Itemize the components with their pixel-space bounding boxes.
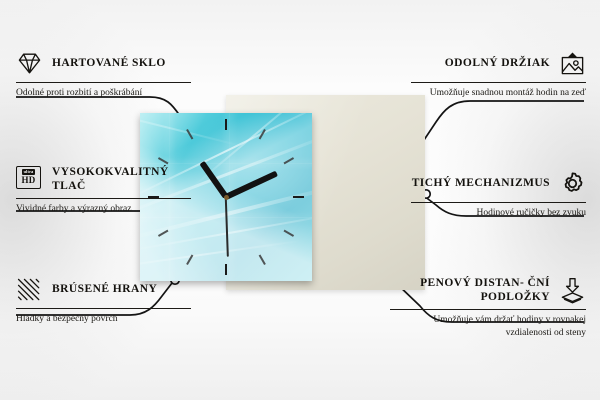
feature-desc: Umožňuje snadnou montáž hodin na zeď bbox=[411, 87, 586, 100]
connector-right-1 bbox=[420, 101, 584, 146]
feature-title: PENOVÝ DISTAN- ČNÍ PODLOŽKY bbox=[390, 276, 550, 304]
picture-hanger-icon bbox=[559, 50, 586, 77]
divider bbox=[16, 198, 191, 199]
feature-desc: Vividné farby a výrazný obraz bbox=[16, 203, 191, 216]
feature-desc: Odolné proti rozbití a poškrábání bbox=[16, 87, 191, 100]
feature-brusene-hrany: BRÚSENÉ HRANY Hladký a bezpečný povrch bbox=[16, 276, 191, 326]
divider bbox=[411, 82, 586, 83]
clock-tick bbox=[225, 119, 227, 130]
feature-title: HARTOVANÉ SKLO bbox=[52, 56, 166, 70]
feature-penove-podlozky: PENOVÝ DISTAN- ČNÍ PODLOŽKY Umožňuje vám… bbox=[390, 276, 586, 339]
feature-odolny-drziak: ODOLNÝ DRŽIAK Umožňuje snadnou montáž ho… bbox=[411, 50, 586, 100]
ultra-hd-icon: ultraHD bbox=[16, 166, 43, 193]
infographic-stage: HARTOVANÉ SKLO Odolné proti rozbití a po… bbox=[0, 0, 600, 400]
feature-title: TICHÝ MECHANIZMUS bbox=[412, 176, 550, 190]
divider bbox=[16, 308, 191, 309]
diamond-icon bbox=[16, 50, 43, 77]
foam-pad-icon bbox=[559, 277, 586, 304]
gear-icon bbox=[559, 170, 586, 197]
feature-title: BRÚSENÉ HRANY bbox=[52, 282, 157, 296]
hand-cap bbox=[224, 195, 229, 200]
feature-desc: Hodinové ručičky bez zvuku bbox=[411, 207, 586, 220]
feature-desc: Hladký a bezpečný povrch bbox=[16, 313, 191, 326]
feature-hartovane-sklo: HARTOVANÉ SKLO Odolné proti rozbití a po… bbox=[16, 50, 191, 100]
feature-desc: Umožňuje vám držať hodiny v rovnakej vzd… bbox=[390, 314, 586, 339]
clock-tick bbox=[225, 264, 227, 275]
clock-tick bbox=[293, 196, 304, 198]
feature-title: ODOLNÝ DRŽIAK bbox=[445, 56, 550, 70]
feature-title: VYSOKOKVALITNÝ TLAČ bbox=[52, 165, 191, 193]
feature-tichy-mechanizmus: TICHÝ MECHANIZMUS Hodinové ručičky bez z… bbox=[411, 170, 586, 220]
divider bbox=[16, 82, 191, 83]
feature-vysokokvalitny-tlac: ultraHD VYSOKOKVALITNÝ TLAČ Vividné farb… bbox=[16, 165, 191, 216]
beveled-edges-icon bbox=[16, 276, 43, 303]
divider bbox=[390, 309, 586, 310]
divider bbox=[411, 202, 586, 203]
